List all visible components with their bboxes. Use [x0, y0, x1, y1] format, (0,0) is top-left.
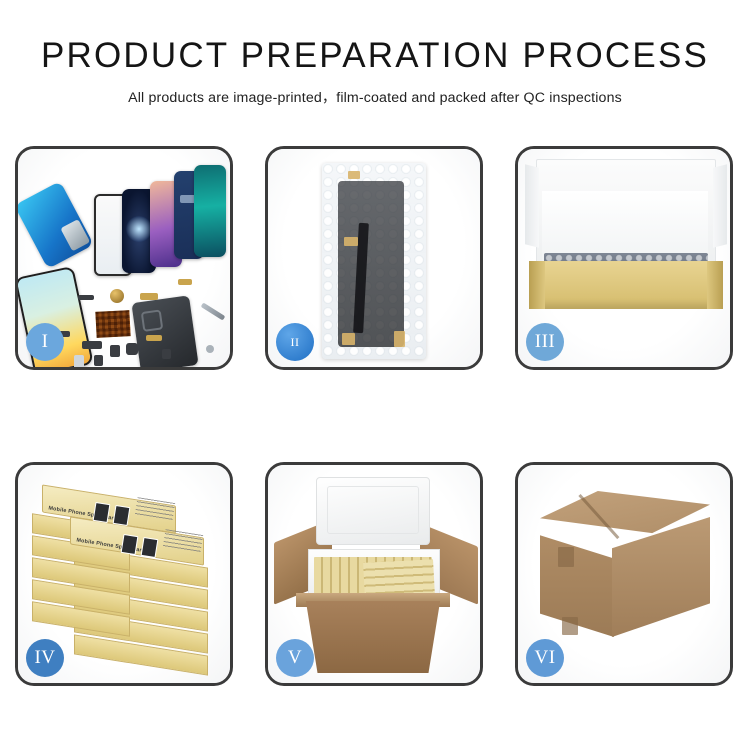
part-icon: [110, 345, 120, 357]
bubble-wrap-icon: [322, 163, 426, 359]
part-icon: [78, 295, 94, 300]
box-art-thumbnail: [93, 502, 111, 523]
part-icon: [146, 335, 162, 341]
step-badge-1: I: [26, 323, 64, 361]
process-step-panel-6[interactable]: VI: [515, 462, 733, 686]
process-step-panel-1[interactable]: I: [15, 146, 233, 370]
page-header: PRODUCT PREPARATION PROCESS All products…: [0, 0, 750, 107]
part-icon: [178, 279, 192, 285]
process-step-panel-5[interactable]: V: [265, 462, 483, 686]
tape-icon: [348, 171, 360, 179]
tweezers-icon: [201, 302, 226, 320]
step-badge-6: VI: [526, 639, 564, 677]
page-title: PRODUCT PREPARATION PROCESS: [0, 38, 750, 75]
part-icon: [82, 341, 102, 349]
carton-tape-icon: [558, 547, 574, 567]
box-stack: Mobile Phone Spare Parts Mobile Phone Sp…: [24, 487, 224, 667]
step-badge-3: III: [526, 323, 564, 361]
kraft-box-body-icon: [530, 261, 722, 309]
phone-back-cover-icon: [15, 181, 94, 269]
chip-array-icon: [95, 310, 130, 338]
lcd-screen-icon: [338, 181, 404, 347]
step-badge-4: IV: [26, 639, 64, 677]
page-subtitle: All products are image-printed，film-coat…: [0, 87, 750, 107]
screw-icon: [206, 345, 214, 353]
part-icon: [126, 343, 138, 355]
carton-tape-icon: [562, 617, 578, 635]
phone-display-teal-icon: [194, 165, 226, 257]
process-step-panel-4[interactable]: Mobile Phone Spare Parts Mobile Phone Sp…: [15, 462, 233, 686]
box-art-thumbnail: [121, 534, 139, 555]
tape-icon: [344, 237, 358, 246]
part-icon: [94, 355, 103, 366]
box-art-thumbnail: [141, 537, 159, 558]
part-icon: [74, 355, 84, 369]
process-step-panel-3[interactable]: III: [515, 146, 733, 370]
foam-lid-icon: [316, 477, 430, 545]
part-icon: [140, 293, 158, 300]
carton-right-face-icon: [612, 517, 710, 637]
tape-icon: [394, 331, 405, 347]
step-badge-5: V: [276, 639, 314, 677]
step-badge-2: II: [276, 323, 314, 361]
tape-icon: [342, 333, 355, 345]
process-step-panel-2[interactable]: II: [265, 146, 483, 370]
box-art-thumbnail: [113, 505, 131, 526]
part-icon: [110, 289, 124, 303]
process-step-grid: I II III: [15, 146, 737, 686]
carton-front-icon: [300, 601, 446, 673]
part-icon: [162, 349, 171, 359]
